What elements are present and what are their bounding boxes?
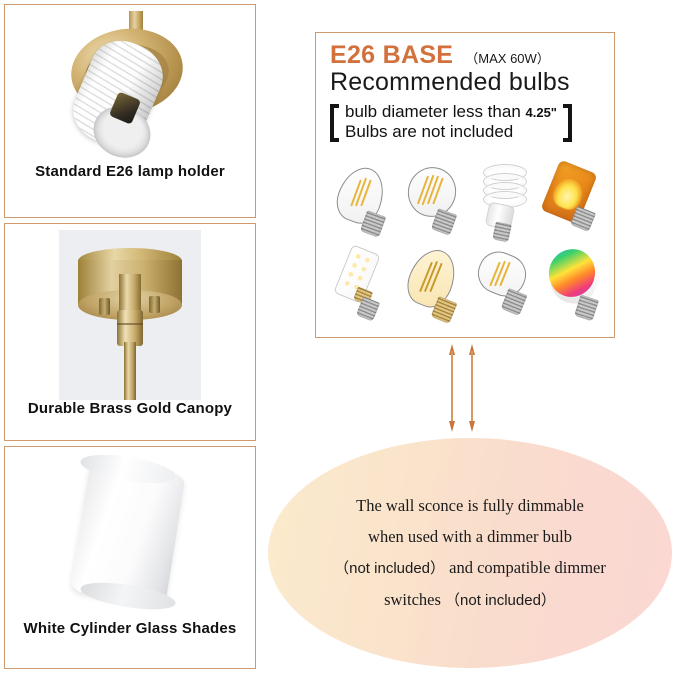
dimmable-note-text: The wall sconce is fully dimmable when u… bbox=[290, 490, 650, 616]
cfl-spiral-tube bbox=[482, 165, 522, 209]
led-corn-bulb-icon bbox=[329, 247, 393, 329]
canopy-screw-right bbox=[149, 296, 160, 313]
e26-note-line1: bulb diameter less than 4.25" bbox=[345, 102, 557, 122]
e26-note-line1-prefix: bulb diameter less than bbox=[345, 102, 526, 121]
panel-canopy: Durable Brass Gold Canopy bbox=[4, 223, 256, 441]
double-arrow-icon-2 bbox=[466, 344, 478, 432]
caption-lamp-holder: Standard E26 lamp holder bbox=[5, 163, 255, 180]
dimmable-not-included-2: （not included） bbox=[445, 592, 556, 609]
flame-effect-bulb-icon bbox=[541, 163, 605, 245]
panel-lamp-holder: Standard E26 lamp holder bbox=[4, 4, 256, 218]
e26-note-diameter-value: 4.25" bbox=[526, 105, 557, 120]
e26-subtitle: Recommended bulbs bbox=[330, 68, 606, 97]
connector-arrows bbox=[440, 344, 484, 432]
rgb-smart-bulb-icon bbox=[541, 247, 605, 329]
panel-glass-shade: White Cylinder Glass Shades bbox=[4, 446, 256, 669]
bracket-right-icon bbox=[562, 102, 572, 141]
left-feature-column: Standard E26 lamp holder Durable Brass G… bbox=[4, 4, 256, 669]
infographic-page: Standard E26 lamp holder Durable Brass G… bbox=[0, 0, 679, 673]
e26-note-line2: Bulbs are not included bbox=[345, 122, 557, 141]
lamp-holder-photo bbox=[55, 11, 205, 163]
clear-tubular-filament-bulb-icon bbox=[470, 247, 534, 329]
dimmable-line-3: （not included） and compatible dimmer bbox=[290, 552, 650, 584]
canopy-photo bbox=[59, 230, 201, 400]
glass-shade-photo bbox=[50, 455, 210, 620]
caption-glass-shade: White Cylinder Glass Shades bbox=[5, 620, 255, 637]
bulb-row-1 bbox=[326, 161, 608, 245]
canopy-coupler-line bbox=[117, 323, 143, 325]
dimmable-line-4: switches （not included） bbox=[290, 584, 650, 616]
e26-base-title: E26 BASE bbox=[330, 41, 453, 70]
st64-edison-filament-bulb-icon bbox=[329, 163, 393, 245]
bulb-gallery bbox=[326, 161, 608, 333]
bracket-left-icon bbox=[330, 102, 340, 141]
e26-note-bracketed: bulb diameter less than 4.25" Bulbs are … bbox=[330, 102, 606, 141]
arrow-head-down-1 bbox=[449, 421, 455, 432]
arrow-head-down-2 bbox=[469, 421, 475, 432]
e26-header: E26 BASE （MAX 60W） Recommended bulbs bul… bbox=[330, 41, 606, 141]
a19-filament-bulb-icon bbox=[400, 163, 464, 245]
arrow-shaft-1 bbox=[451, 351, 453, 425]
canopy-screw-left bbox=[99, 298, 110, 315]
cfl-screw-base bbox=[493, 222, 512, 243]
bulb-row-2 bbox=[326, 245, 608, 329]
e26-title-row: E26 BASE （MAX 60W） bbox=[330, 41, 606, 70]
canopy-coupler bbox=[117, 310, 143, 346]
dimmable-line-4-head: switches bbox=[384, 590, 445, 609]
panel-e26-recommended-bulbs: E26 BASE （MAX 60W） Recommended bulbs bul… bbox=[315, 32, 615, 338]
canopy-rod bbox=[124, 342, 136, 400]
dimmable-not-included-1: （not included） bbox=[334, 560, 445, 577]
double-arrow-icon-1 bbox=[446, 344, 458, 432]
amber-st64-edison-bulb-icon bbox=[400, 247, 464, 329]
e26-note-text: bulb diameter less than 4.25" Bulbs are … bbox=[340, 102, 562, 141]
arrow-shaft-2 bbox=[471, 351, 473, 425]
dimmable-line-1: The wall sconce is fully dimmable bbox=[290, 490, 650, 521]
dimmable-note-ellipse: The wall sconce is fully dimmable when u… bbox=[268, 438, 672, 668]
cfl-spiral-bulb-icon bbox=[470, 163, 534, 245]
e26-max-watt: （MAX 60W） bbox=[465, 48, 550, 67]
caption-canopy: Durable Brass Gold Canopy bbox=[5, 400, 255, 417]
dimmable-line-3-tail: and compatible dimmer bbox=[445, 558, 606, 577]
dimmable-line-2: when used with a dimmer bulb bbox=[290, 521, 650, 552]
